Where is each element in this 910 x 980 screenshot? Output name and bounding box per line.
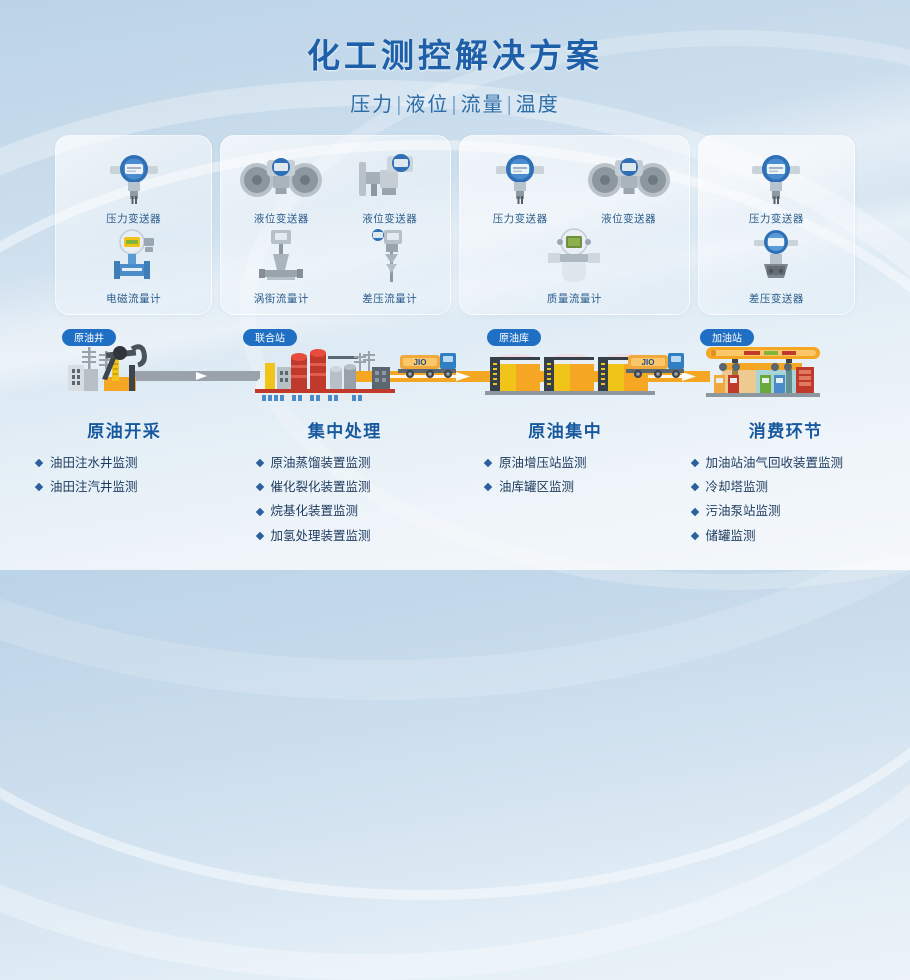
product-item[interactable]: 差压流量计 <box>338 228 442 306</box>
list-item: 烷基化装置监测 <box>257 499 448 523</box>
product-row: 电磁流量计 <box>62 226 205 306</box>
level-transmitter-single-flange-icon <box>351 148 429 206</box>
product-card-1[interactable]: 压力变送器 <box>55 135 212 315</box>
product-label: 电磁流量计 <box>106 291 161 306</box>
product-label: 液位变送器 <box>254 211 309 226</box>
list-item-label: 加油站油气回收装置监测 <box>706 451 844 475</box>
bullet-diamond-icon <box>484 483 492 491</box>
stage-bullet-list: 加油站油气回收装置监测 冷却塔监测 污油泵站监测 储罐监测 <box>684 451 889 549</box>
stage-column-2: 集中处理 原油蒸馏装置监测 催化裂化装置监测 烷基化装置监测 加氢处理装置监测 <box>235 417 456 549</box>
bullet-diamond-icon <box>484 459 492 467</box>
bullet-diamond-icon <box>690 459 698 467</box>
product-label: 压力变送器 <box>106 211 161 226</box>
mass-flowmeter-icon <box>538 228 610 286</box>
badge-label: 加油站 <box>712 331 742 344</box>
list-item: 油库罐区监测 <box>485 475 668 499</box>
list-item-label: 原油增压站监测 <box>499 451 587 475</box>
stage-title: 原油开采 <box>22 417 227 442</box>
bullet-diamond-icon <box>35 483 43 491</box>
product-label: 差压流量计 <box>362 291 417 306</box>
product-label: 压力变送器 <box>749 211 804 226</box>
tanker-truck-2: JIO <box>626 353 684 378</box>
product-item[interactable]: 液位变送器 <box>577 148 681 226</box>
bullet-diamond-icon <box>255 459 263 467</box>
subtitle-part-flow: 流量 <box>461 94 505 116</box>
list-item-label: 加氢处理装置监测 <box>271 524 371 548</box>
subtitle-part-level: 液位 <box>405 94 449 116</box>
list-item: 原油增压站监测 <box>485 451 668 475</box>
bullet-diamond-icon <box>690 532 698 540</box>
pressure-transmitter-icon <box>746 148 806 206</box>
list-item: 油田注水井监测 <box>36 451 227 475</box>
product-row: 压力变送器 <box>62 146 205 226</box>
truck-label: JIO <box>642 358 655 367</box>
page-title: 化工测控解决方案 <box>0 36 910 76</box>
product-item[interactable]: 电磁流量计 <box>82 228 186 306</box>
stage-bullet-list: 油田注水井监测 油田注汽井监测 <box>22 451 227 500</box>
bullet-diamond-icon <box>255 532 263 540</box>
badge-label: 原油井 <box>74 331 104 344</box>
product-label: 压力变送器 <box>493 211 548 226</box>
bullet-diamond-icon <box>690 507 698 515</box>
product-card-2[interactable]: 液位变送器 液位变送器 <box>220 135 451 315</box>
gas-station-illustration <box>706 347 820 397</box>
list-item-label: 油田注水井监测 <box>50 451 138 475</box>
bullet-diamond-icon <box>255 507 263 515</box>
vortex-flowmeter-icon <box>251 228 311 286</box>
list-item: 加油站油气回收装置监测 <box>692 451 889 475</box>
subtitle-part-temperature: 温度 <box>516 94 560 116</box>
subtitle-separator-1: | <box>396 94 403 116</box>
product-row: 差压变送器 <box>705 226 848 306</box>
tanker-truck-1: JIO <box>398 353 456 378</box>
page-header: 化工测控解决方案 压力|液位|流量|温度 <box>0 0 910 117</box>
stage-title: 原油集中 <box>463 417 668 442</box>
list-item-label: 储罐监测 <box>706 524 756 548</box>
product-item[interactable]: 压力变送器 <box>724 148 828 226</box>
list-item: 加氢处理装置监测 <box>257 524 448 548</box>
subtitle-separator-3: | <box>507 94 514 116</box>
badge-label: 原油库 <box>499 331 529 344</box>
differential-pressure-flowmeter-icon <box>360 228 420 286</box>
product-row: 质量流量计 <box>466 226 683 306</box>
pressure-transmitter-icon <box>104 148 164 206</box>
list-item: 冷却塔监测 <box>692 475 889 499</box>
stage-column-1: 原油开采 油田注水井监测 油田注汽井监测 <box>14 417 235 549</box>
subtitle-separator-2: | <box>451 94 458 116</box>
product-row: 压力变送器 <box>466 146 683 226</box>
list-item: 油田注汽井监测 <box>36 475 227 499</box>
list-item: 原油蒸馏装置监测 <box>257 451 448 475</box>
product-row: 压力变送器 <box>705 146 848 226</box>
oil-well-illustration <box>68 346 144 391</box>
product-item[interactable]: 液位变送器 <box>229 148 333 226</box>
product-row: 液位变送器 液位变送器 <box>227 146 444 226</box>
bullet-diamond-icon <box>690 483 698 491</box>
stage-column-4: 消费环节 加油站油气回收装置监测 冷却塔监测 污油泵站监测 储罐监测 <box>676 417 897 549</box>
level-transmitter-flange-icon <box>237 148 325 206</box>
list-item-label: 烷基化装置监测 <box>271 499 359 523</box>
product-label: 质量流量计 <box>547 291 602 306</box>
product-item[interactable]: 差压变送器 <box>724 228 828 306</box>
stage-title: 集中处理 <box>243 417 448 442</box>
bullet-diamond-icon <box>255 483 263 491</box>
product-item[interactable]: 质量流量计 <box>522 228 626 306</box>
stage-badge-2: 联合站 <box>243 329 297 346</box>
list-item-label: 冷却塔监测 <box>706 475 769 499</box>
product-label: 液位变送器 <box>601 211 656 226</box>
stage-badge-4: 加油站 <box>700 329 754 346</box>
product-label: 涡街流量计 <box>254 291 309 306</box>
subtitle-part-pressure: 压力 <box>350 94 394 116</box>
list-item: 污油泵站监测 <box>692 499 889 523</box>
stage-column-3: 原油集中 原油增压站监测 油库罐区监测 <box>455 417 676 549</box>
product-item[interactable]: 液位变送器 <box>338 148 442 226</box>
process-flow-diagram: JIO <box>0 327 910 413</box>
product-card-4[interactable]: 压力变送器 <box>698 135 855 315</box>
product-item[interactable]: 压力变送器 <box>82 148 186 226</box>
product-label: 液位变送器 <box>362 211 417 226</box>
refinery-illustration <box>255 349 395 401</box>
bullet-diamond-icon <box>35 459 43 467</box>
stage-badge-3: 原油库 <box>487 329 541 346</box>
badge-label: 联合站 <box>255 331 285 344</box>
page-subtitle: 压力|液位|流量|温度 <box>0 88 910 117</box>
list-item: 储罐监测 <box>692 524 889 548</box>
product-item[interactable]: 涡街流量计 <box>229 228 333 306</box>
list-item-label: 催化裂化装置监测 <box>271 475 371 499</box>
list-item-label: 油库罐区监测 <box>499 475 574 499</box>
stage-bullet-list: 原油蒸馏装置监测 催化裂化装置监测 烷基化装置监测 加氢处理装置监测 <box>243 451 448 549</box>
product-row: 涡街流量计 差压流量计 <box>227 226 444 306</box>
list-item-label: 原油蒸馏装置监测 <box>271 451 371 475</box>
product-item[interactable]: 压力变送器 <box>468 148 572 226</box>
level-transmitter-flange-icon <box>585 148 673 206</box>
product-label: 差压变送器 <box>749 291 804 306</box>
electromagnetic-flowmeter-icon <box>104 228 164 286</box>
product-card-3[interactable]: 压力变送器 <box>459 135 690 315</box>
truck-label: JIO <box>414 358 427 367</box>
list-item-label: 污油泵站监测 <box>706 499 781 523</box>
pressure-transmitter-icon <box>490 148 550 206</box>
list-item-label: 油田注汽井监测 <box>50 475 138 499</box>
stage-title: 消费环节 <box>684 417 889 442</box>
differential-pressure-transmitter-icon <box>746 228 806 286</box>
list-item: 催化裂化装置监测 <box>257 475 448 499</box>
stage-detail-row: 原油开采 油田注水井监测 油田注汽井监测 集中处理 原油蒸馏装置监测 催化裂化装… <box>0 417 910 549</box>
product-card-row: 压力变送器 <box>55 135 855 315</box>
stage-bullet-list: 原油增压站监测 油库罐区监测 <box>463 451 668 500</box>
stage-badge-1: 原油井 <box>62 329 116 346</box>
